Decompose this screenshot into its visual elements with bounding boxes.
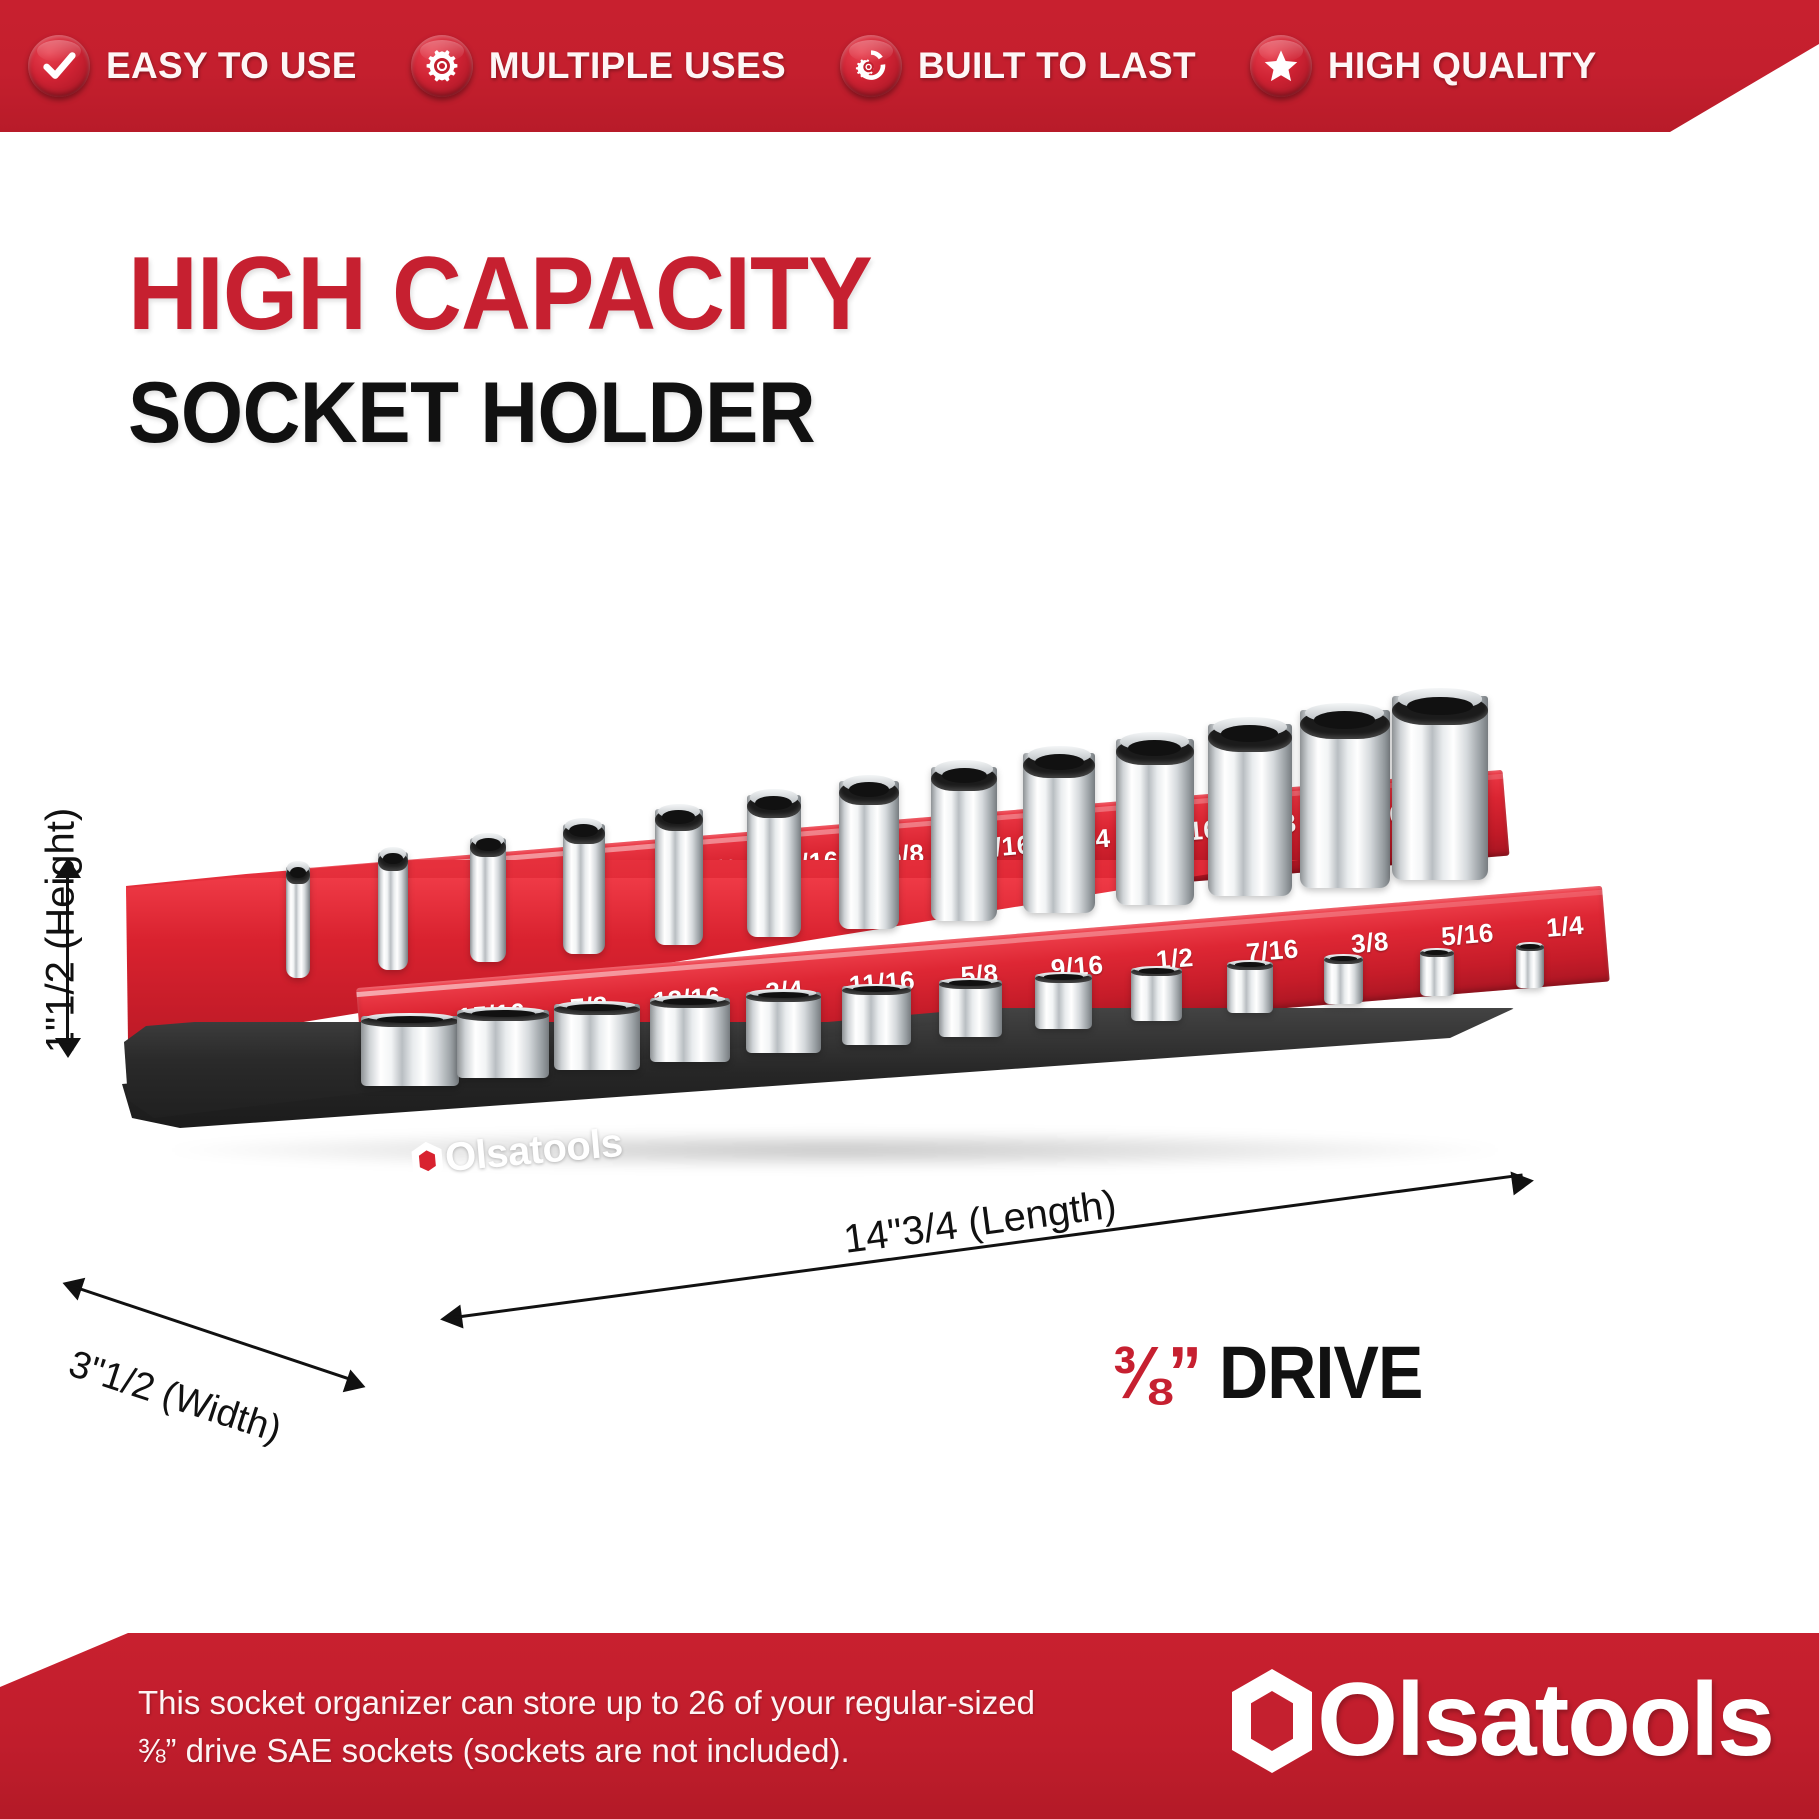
socket-opening — [746, 992, 821, 1002]
socket-back-1-4 — [286, 866, 310, 978]
socket-body — [470, 838, 506, 962]
dimension-height-label: 1"1/2 (Height) — [39, 778, 84, 1084]
feature-badge-label: BUILT TO LAST — [918, 45, 1196, 87]
socket-body — [931, 767, 997, 921]
socket-body — [563, 824, 605, 954]
socket-front-7-16 — [1227, 962, 1273, 1013]
socket-opening — [361, 1016, 459, 1027]
socket-front-7-8 — [554, 1004, 640, 1070]
socket-body — [361, 1016, 459, 1086]
socket-opening — [1208, 724, 1292, 752]
feature-badge-label: MULTIPLE USES — [489, 45, 786, 87]
socket-body — [286, 866, 310, 978]
socket-opening — [842, 986, 911, 995]
socket-opening — [1131, 968, 1182, 976]
socket-opening — [1420, 950, 1454, 957]
socket-back-5-8 — [839, 781, 899, 929]
socket-body — [939, 980, 1002, 1037]
socket-body — [1392, 696, 1488, 880]
footer-brand-logo-text: Olsatools — [1317, 1661, 1773, 1780]
socket-body — [1300, 710, 1390, 888]
socket-opening — [650, 998, 731, 1008]
arrow-right-icon — [1511, 1169, 1536, 1196]
socket-front-1-2 — [1131, 968, 1182, 1021]
socket-body — [1227, 962, 1273, 1013]
socket-body — [746, 992, 821, 1053]
socket-body — [1420, 950, 1454, 996]
headline-primary: HIGH CAPACITY — [128, 242, 872, 346]
socket-body — [1324, 956, 1364, 1004]
socket-body — [1116, 739, 1194, 905]
socket-opening — [554, 1004, 640, 1015]
dimension-width-label: 3"1/2 (Width) — [63, 1343, 286, 1452]
socket-front-3-8 — [1324, 956, 1364, 1004]
socket-back-3-8 — [470, 838, 506, 962]
socket-front-1 — [361, 1016, 459, 1086]
feature-badge-multiple-uses: MULTIPLE USES — [411, 35, 786, 97]
socket-opening — [1392, 696, 1488, 725]
feature-badge-built-to-last: BUILT TO LAST — [840, 35, 1196, 97]
socket-opening — [563, 824, 605, 845]
footer-description-line-2: ⅜” drive SAE sockets (sockets are not in… — [138, 1727, 1035, 1775]
socket-front-5-8 — [939, 980, 1002, 1037]
socket-opening — [1324, 956, 1364, 964]
socket-back-13-16 — [1116, 739, 1194, 905]
top-feature-banner: EASY TO USE MULTIPLE USES — [0, 0, 1819, 132]
socket-back-5-16 — [378, 852, 408, 970]
arrow-right-icon — [343, 1369, 370, 1398]
olsa-hexagon-o-icon — [409, 1140, 446, 1181]
socket-back-9-16 — [747, 795, 801, 937]
dimension-width: 3"1/2 (Width) — [60, 1270, 390, 1390]
socket-front-13-16 — [650, 998, 731, 1062]
feature-badge-label: HIGH QUALITY — [1328, 45, 1597, 87]
socket-opening — [747, 795, 801, 818]
gear-refresh-icon — [840, 35, 902, 97]
socket-back-15-16 — [1300, 710, 1390, 888]
drive-fraction-label: ⅜” — [1112, 1330, 1201, 1415]
headline-block: HIGH CAPACITY SOCKET HOLDER — [128, 242, 928, 458]
socket-body — [650, 998, 731, 1062]
feature-badge-group: EASY TO USE MULTIPLE USES — [28, 35, 1597, 97]
feature-badge-easy-to-use: EASY TO USE — [28, 35, 357, 97]
socket-front-15-16 — [457, 1010, 549, 1078]
socket-opening — [1300, 710, 1390, 738]
footer-brand-logo: Olsatools — [1229, 1661, 1773, 1780]
olsa-hexagon-o-icon — [1229, 1669, 1315, 1773]
socket-body — [839, 781, 899, 929]
socket-opening — [457, 1010, 549, 1021]
socket-front-3-4 — [746, 992, 821, 1053]
socket-body — [1208, 724, 1292, 896]
gear-icon — [411, 35, 473, 97]
socket-opening — [939, 980, 1002, 989]
product-image-stage: 1/45/163/87/161/29/165/811/163/413/167/8… — [0, 600, 1819, 1220]
socket-back-7-16 — [563, 824, 605, 954]
footer-description-line-1: This socket organizer can store up to 26… — [138, 1679, 1035, 1727]
socket-opening — [1116, 739, 1194, 766]
rail-size-label: 1/4 — [1545, 910, 1585, 944]
product-drop-shadow — [150, 1130, 1520, 1170]
star-icon — [1250, 35, 1312, 97]
socket-body — [457, 1010, 549, 1078]
dimension-height: 1"1/2 (Height) — [6, 790, 76, 1080]
socket-body — [378, 852, 408, 970]
socket-back-11-16 — [931, 767, 997, 921]
socket-back-3-4 — [1023, 753, 1095, 913]
socket-front-9-16 — [1035, 974, 1092, 1029]
socket-body — [554, 1004, 640, 1070]
socket-body — [747, 795, 801, 937]
socket-back-7-8 — [1208, 724, 1292, 896]
socket-opening — [1023, 753, 1095, 779]
socket-opening — [1516, 944, 1544, 951]
socket-body — [1035, 974, 1092, 1029]
socket-back-1 — [1392, 696, 1488, 880]
feature-badge-high-quality: HIGH QUALITY — [1250, 35, 1597, 97]
socket-body — [655, 809, 703, 945]
socket-body — [1023, 753, 1095, 913]
socket-opening — [655, 809, 703, 831]
socket-holder-product: 1/45/163/87/161/29/165/811/163/413/167/8… — [110, 740, 1530, 1200]
drive-size-callout: ⅜” DRIVE — [1112, 1330, 1440, 1415]
check-circle-icon — [28, 35, 90, 97]
headline-secondary: SOCKET HOLDER — [128, 368, 872, 458]
socket-opening — [470, 838, 506, 858]
rail-size-label: 5/16 — [1440, 918, 1495, 953]
socket-front-5-16 — [1420, 950, 1454, 996]
socket-body — [1516, 944, 1544, 988]
socket-opening — [839, 781, 899, 805]
socket-opening — [286, 866, 310, 884]
footer-banner: This socket organizer can store up to 26… — [0, 1633, 1819, 1819]
socket-back-1-2 — [655, 809, 703, 945]
socket-body — [842, 986, 911, 1045]
socket-body — [1131, 968, 1182, 1021]
drive-word-label: DRIVE — [1219, 1330, 1422, 1415]
feature-badge-label: EASY TO USE — [106, 45, 357, 87]
footer-description: This socket organizer can store up to 26… — [138, 1679, 1035, 1775]
socket-opening — [931, 767, 997, 792]
socket-front-11-16 — [842, 986, 911, 1045]
socket-front-1-4 — [1516, 944, 1544, 988]
socket-opening — [378, 852, 408, 871]
socket-opening — [1035, 974, 1092, 983]
socket-opening — [1227, 962, 1273, 970]
